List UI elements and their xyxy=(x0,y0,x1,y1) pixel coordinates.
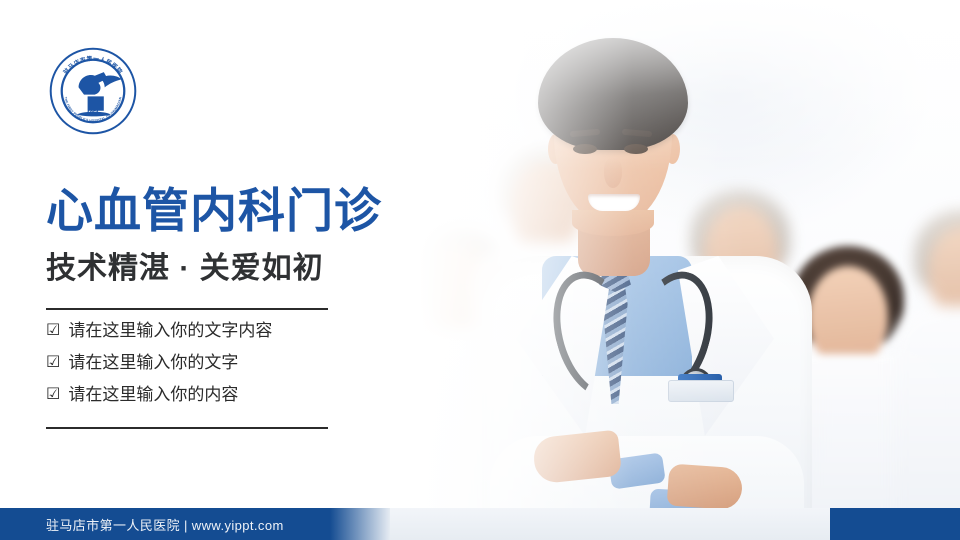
logo-year: 1951 xyxy=(87,110,99,116)
doctor-hand-left xyxy=(532,430,622,485)
page-title: 心血管内科门诊 xyxy=(46,186,382,236)
list-item-label: 请在这里输入你的文字内容 xyxy=(68,322,272,339)
id-badge xyxy=(668,380,734,402)
medical-team-photo xyxy=(330,0,960,540)
check-box-icon: ☑ xyxy=(46,355,60,371)
list-item: ☑ 请在这里输入你的文字内容 xyxy=(46,322,346,339)
doctor-hair xyxy=(538,38,688,150)
doctor-smile xyxy=(588,194,640,211)
list-item-label: 请在这里输入你的内容 xyxy=(68,386,238,403)
coat-over-footer xyxy=(330,508,830,540)
check-box-icon: ☑ xyxy=(46,387,60,403)
presentation-slide: 1951 驻马店市第一人民医院 THE FIRST PEOPLE'S HOSPI… xyxy=(0,0,960,540)
doctor-nose xyxy=(604,158,622,188)
background-colleague-6 xyxy=(890,210,960,540)
page-subtitle: 技术精湛 · 关爱如初 xyxy=(46,252,324,286)
bullet-list: ☑ 请在这里输入你的文字内容 ☑ 请在这里输入你的文字 ☑ 请在这里输入你的内容 xyxy=(46,322,346,418)
divider-bottom xyxy=(46,427,328,429)
doctor-chin xyxy=(572,210,654,236)
check-box-icon: ☑ xyxy=(46,323,60,339)
list-item: ☑ 请在这里输入你的文字 xyxy=(46,354,346,371)
foreground-doctor xyxy=(482,38,812,540)
list-item: ☑ 请在这里输入你的内容 xyxy=(46,386,346,403)
doctor-hand-right xyxy=(667,463,744,510)
list-item-label: 请在这里输入你的文字 xyxy=(68,354,238,371)
footer-text: 驻马店市第一人民医院 | www.yippt.com xyxy=(46,508,284,540)
doctor-eye-right xyxy=(624,144,648,154)
divider-top xyxy=(46,308,328,310)
doctor-eye-left xyxy=(573,144,597,154)
hospital-logo: 1951 驻马店市第一人民医院 THE FIRST PEOPLE'S HOSPI… xyxy=(48,46,138,136)
